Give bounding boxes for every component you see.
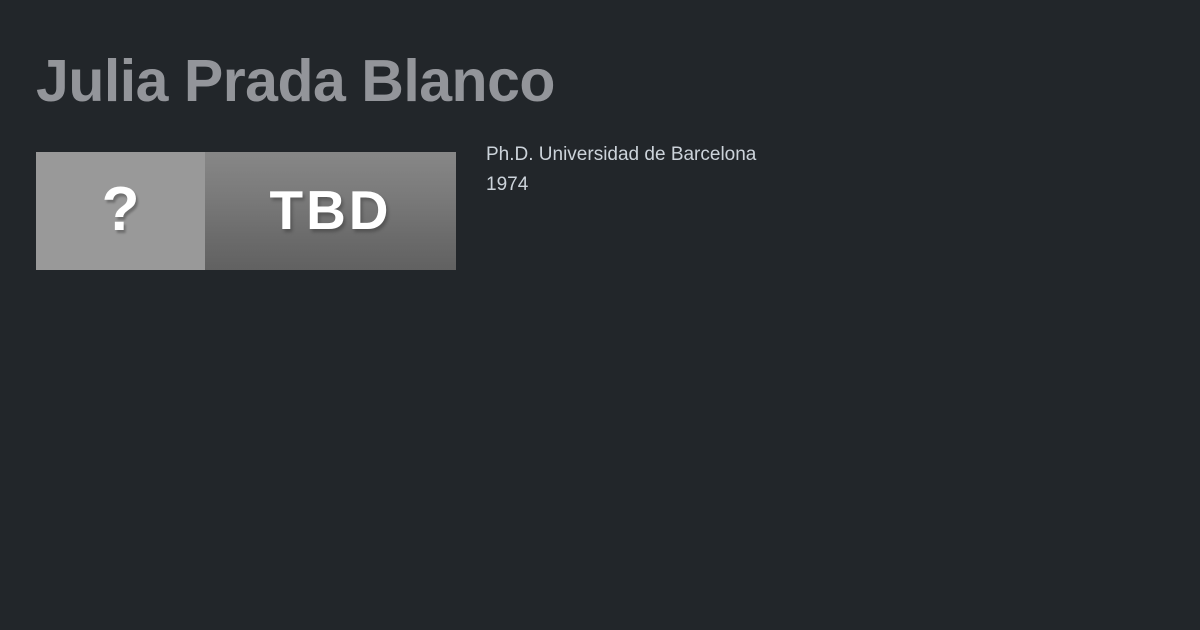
info-block: Ph.D. Universidad de Barcelona 1974 (486, 140, 1086, 200)
degree-line: Ph.D. Universidad de Barcelona (486, 140, 1086, 170)
page-root: Julia Prada Blanco ? TBD Ph.D. Universid… (0, 0, 1200, 630)
question-mark-icon: ? (102, 179, 140, 241)
thumbnail-placeholder[interactable]: ? TBD (36, 152, 456, 270)
page-title: Julia Prada Blanco (36, 45, 555, 117)
tbd-label: TBD (269, 183, 391, 238)
content-row: ? TBD Ph.D. Universidad de Barcelona 197… (36, 152, 1164, 282)
tbd-panel: TBD (205, 152, 456, 270)
year-line: 1974 (486, 170, 1086, 200)
question-mark-panel: ? (36, 152, 205, 270)
